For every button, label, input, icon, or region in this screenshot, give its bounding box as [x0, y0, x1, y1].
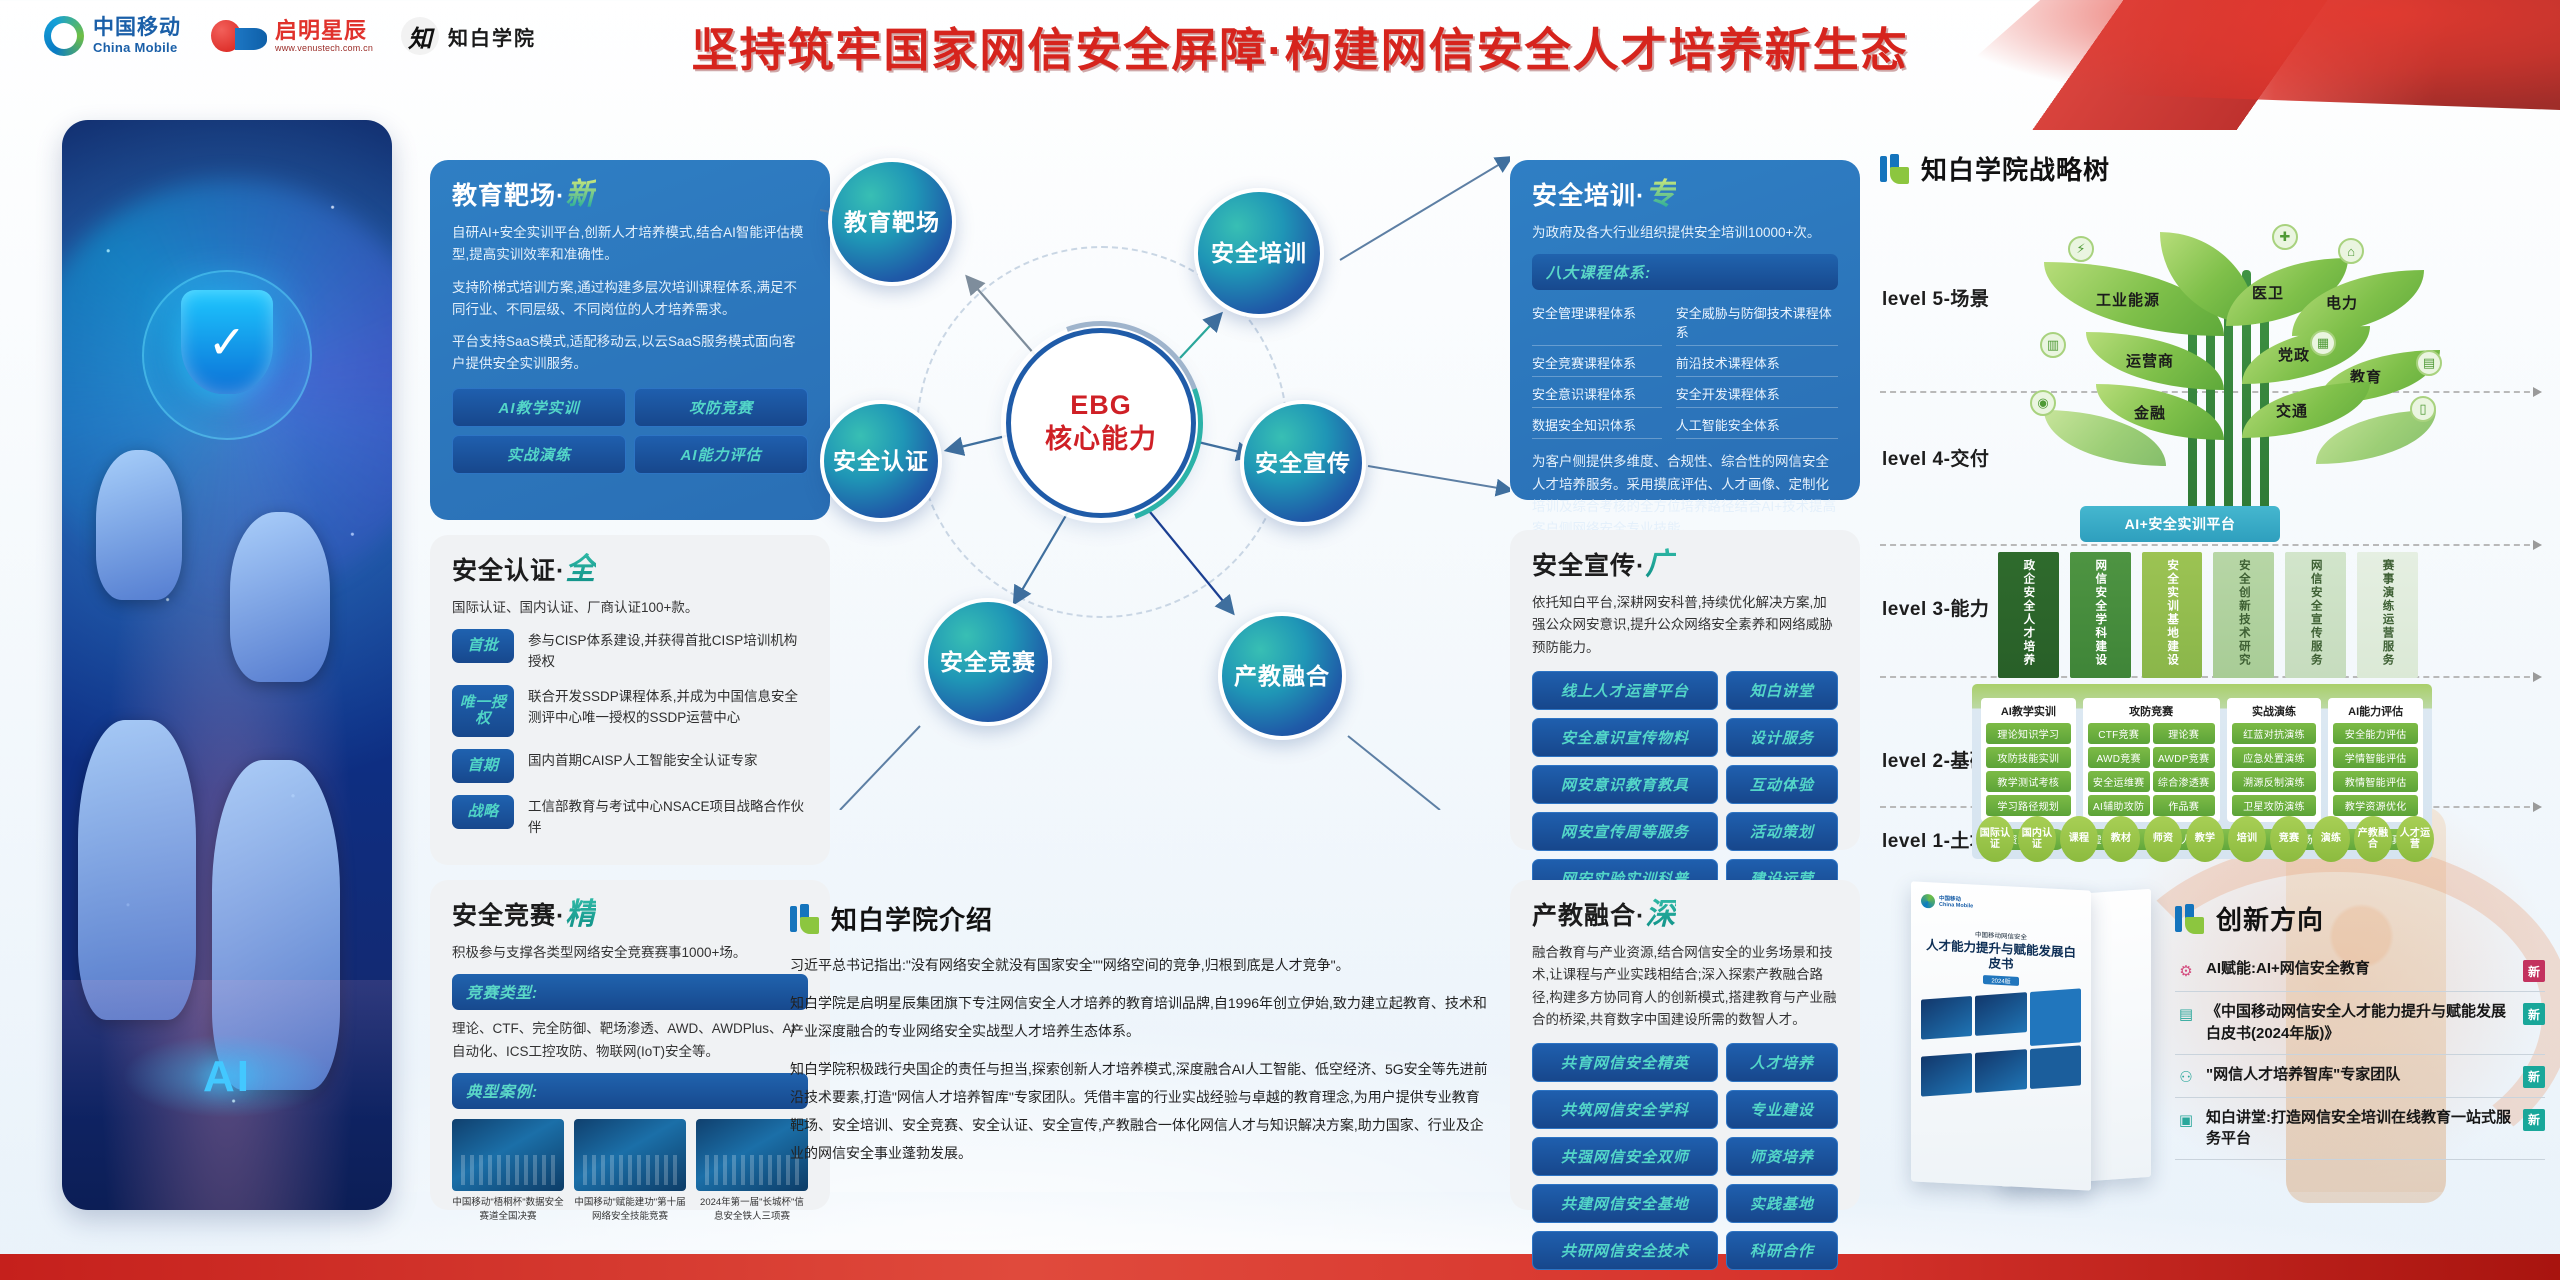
scene-label-operator: 运营商	[2126, 350, 2174, 371]
pill-combat-drill[interactable]: 实战演练	[452, 435, 626, 474]
book-icon: ▤	[2175, 1003, 2197, 1025]
foundation-item: 综合渗透赛	[2153, 771, 2215, 792]
soil-item: 人才运营	[2396, 816, 2434, 862]
node-security-training[interactable]: 安全培训	[1194, 188, 1324, 318]
power-plug-icon: ⌂	[2338, 238, 2364, 264]
competition-types: 理论、CTF、完全防御、靶场渗透、AWD、AWDPlus、AI自动化、ICS工控…	[452, 1018, 808, 1063]
case-photo	[452, 1119, 564, 1191]
level-4-label: level 4-交付	[1882, 444, 1989, 471]
capability-label: 政企安全人才培养	[2020, 559, 2036, 667]
case-caption: 中国移动"赋能建功"第十届网络安全技能竞赛	[574, 1196, 686, 1224]
pill-co-build-discipline[interactable]: 共筑网信安全学科	[1532, 1090, 1718, 1129]
page-title: 坚持筑牢国家网信安全屏障·构建网信安全人才培养新生态	[600, 14, 2000, 80]
whitepaper-year: 2024版	[1983, 975, 2019, 986]
pill-education-aids[interactable]: 网安意识教育教具	[1532, 765, 1718, 804]
strategy-tree-header: 知白学院战略树	[1880, 150, 2540, 187]
soil-item: 演练	[2312, 816, 2350, 862]
course-item: 人工智能安全体系	[1676, 410, 1838, 439]
tree-levels: level 5-场景 level 4-交付 level 3-能力 level 2…	[1880, 206, 2540, 806]
innovation-item[interactable]: ▣ 知白讲堂:打造网信安全培训在线教育一站式服务平台 新	[2175, 1098, 2545, 1161]
certification-item: 唯一授权 联合开发SSDP课程体系,并成为中国信息安全测评中心唯一授权的SSDP…	[452, 685, 808, 737]
pill-talent-cultivation[interactable]: 人才培养	[1726, 1043, 1838, 1082]
finance-icon: ◉	[2030, 390, 2056, 416]
capability-label: 网信安全宣传服务	[2308, 559, 2324, 667]
capability-column: 安全创新技术研究	[2213, 552, 2274, 678]
scene-label-industrial-energy: 工业能源	[2096, 289, 2160, 310]
scene-label-power: 电力	[2326, 292, 2358, 313]
capability-column: 赛事演练运营服务	[2357, 552, 2418, 678]
core-label-ebg: EBG	[1045, 389, 1157, 423]
case-photo	[574, 1119, 686, 1191]
china-mobile-name-en: China Mobile	[93, 40, 181, 55]
foundation-item: 卫星攻防演练	[2232, 795, 2317, 816]
intro-para-1: 习近平总书记指出:"没有网络安全就没有国家安全""网络空间的竞争,归根到底是人才…	[790, 951, 1490, 979]
level-3-label: level 3-能力	[1882, 594, 1989, 621]
book-icon: ▤	[2416, 350, 2442, 376]
innovation-item-text: 《中国移动网信安全人才能力提升与赋能发展白皮书(2024年版)》	[2206, 1001, 2514, 1045]
hero-banner: AI	[62, 120, 392, 1210]
zhibai-seal-icon: 知	[401, 17, 439, 55]
foundation-items: 安全能力评估 学情智能评估 教情智能评估 教学资源优化	[2333, 723, 2418, 816]
promotion-lead: 依托知白平台,深耕网安科普,持续优化解决方案,加强公众网安意识,提升公众网络安全…	[1532, 592, 1838, 659]
foundation-item: 理论知识学习	[1986, 723, 2071, 744]
innovation-item[interactable]: ⚙ AI赋能:AI+网信安全教育 新	[2175, 949, 2545, 992]
innovation-item[interactable]: ▤ 《中国移动网信安全人才能力提升与赋能发展白皮书(2024年版)》 新	[2175, 992, 2545, 1055]
capability-label: 安全实训基地建设	[2164, 559, 2180, 667]
cert-badge: 战略	[452, 795, 514, 829]
innovation-item[interactable]: ⚇ "网信人才培养智库"专家团队 新	[2175, 1055, 2545, 1098]
whitepaper-front-cover: 中国移动 China Mobile 中国移动网信安全 人才能力提升与赋能发展白皮…	[1911, 881, 2091, 1190]
integration-lead: 融合教育与产业资源,结合网信安全的业务场景和技术,让课程与产业实践相结合;深入探…	[1532, 942, 1838, 1031]
zhibai-brand-icon	[2175, 904, 2205, 934]
intro-para-2: 知白学院是启明星辰集团旗下专注网信安全人才培养的教育培训品牌,自1996年创立伊…	[790, 989, 1490, 1045]
foundation-items: CTF竞赛 理论赛 AWD竞赛 AWDP竞赛 安全运维赛 综合渗透赛 AI辅助攻…	[2088, 723, 2215, 816]
foundation-item: 红蓝对抗演练	[2232, 723, 2317, 744]
card-title: 安全认证·全	[452, 555, 808, 585]
foundation-group-title: 攻防竞赛	[2088, 703, 2215, 719]
pill-co-build-base[interactable]: 共建网信安全基地	[1532, 1184, 1718, 1223]
card-title: 教育靶场·新	[452, 180, 808, 210]
node-security-certification[interactable]: 安全认证	[820, 400, 942, 522]
intro-header: 知白学院介绍	[790, 900, 1490, 937]
card-security-promotion: 安全宣传·广 依托知白平台,深耕网安科普,持续优化解决方案,加强公众网安意识,提…	[1510, 530, 1860, 850]
competition-type-bar: 竞赛类型:	[452, 974, 808, 1010]
node-education-range[interactable]: 教育靶场	[828, 158, 956, 286]
card-security-training: 安全培训·专 为政府及各大行业组织提供安全培训10000+次。 八大课程体系: …	[1510, 160, 1860, 500]
whitepaper-title: 人才能力提升与赋能发展白皮书	[1921, 938, 2081, 976]
tree-crown: 工业能源 医卫 电力 运营商 党政 教育 金融	[2030, 214, 2470, 514]
capability-column: 网信安全宣传服务	[2285, 552, 2346, 678]
venustech-name: 启明星辰	[275, 19, 373, 42]
monitor-icon: ▣	[2175, 1109, 2197, 1131]
node-industry-education[interactable]: 产教融合	[1218, 612, 1346, 740]
scene-label-transport: 交通	[2276, 400, 2308, 421]
status-badge: 新	[2523, 960, 2545, 982]
zhibai-brand-icon	[1880, 154, 1910, 184]
foundation-items: 红蓝对抗演练 应急处置演练 溯源反制演练 卫星攻防演练	[2232, 723, 2317, 816]
china-mobile-icon	[44, 16, 84, 56]
zhibai-name: 知白学院	[448, 22, 536, 51]
pill-event-planning[interactable]: 活动策划	[1726, 812, 1838, 851]
card-industry-education: 产教融合·深 融合教育与产业资源,结合网信安全的业务场景和技术,让课程与产业实践…	[1510, 880, 1860, 1210]
capability-column: 网信安全学科建设	[2070, 552, 2131, 678]
pill-co-cultivate-elites[interactable]: 共育网信安全精英	[1532, 1043, 1718, 1082]
training-lead: 为政府及各大行业组织提供安全培训10000+次。	[1532, 222, 1838, 244]
pill-online-talent-platform[interactable]: 线上人才运营平台	[1532, 671, 1718, 710]
status-badge: 新	[2523, 1066, 2545, 1088]
venustech-url: www.venustech.com.cn	[275, 43, 373, 53]
case-caption: 中国移动"梧桐杯"数据安全赛道全国决赛	[452, 1196, 564, 1224]
venustech-icon	[209, 16, 267, 56]
case-item: 中国移动"梧桐杯"数据安全赛道全国决赛	[452, 1119, 564, 1224]
soil-item: 国际认证	[1976, 816, 2014, 862]
strategy-tree-panel: 知白学院战略树 level 5-场景 level 4-交付 level 3-能力…	[1880, 150, 2540, 810]
astronaut-figure	[230, 512, 330, 682]
train-icon: ▯	[2410, 396, 2436, 422]
ai-security-platform-node[interactable]: AI+安全实训平台	[2080, 506, 2280, 542]
level3-capability-columns: 政企安全人才培养 网信安全学科建设 安全实训基地建设 安全创新技术研究 网信安全…	[1998, 552, 2418, 678]
foundation-item: 攻防技能实训	[1986, 747, 2071, 768]
status-badge: 新	[2523, 1109, 2545, 1131]
pill-faculty-training[interactable]: 师资培养	[1726, 1137, 1838, 1176]
node-security-promotion[interactable]: 安全宣传	[1240, 400, 1366, 526]
venustech-logo: 启明星辰 www.venustech.com.cn	[209, 16, 373, 56]
capability-column: 政企安全人才培养	[1998, 552, 2059, 678]
education-para-1: 自研AI+安全实训平台,创新人才培养模式,结合AI智能评估模型,提高实训效率和准…	[452, 222, 808, 267]
foundation-group-title: AI能力评估	[2333, 703, 2418, 719]
soil-item: 国内认证	[2018, 816, 2056, 862]
innovation-item-text: "网信人才培养智库"专家团队	[2206, 1064, 2514, 1086]
foundation-item: AWDP竞赛	[2153, 747, 2215, 768]
hero-ai-label: AI	[203, 1052, 251, 1102]
card-title: 安全竞赛·精	[452, 900, 808, 930]
innovation-header: 创新方向	[2175, 900, 2545, 937]
capability-label: 赛事演练运营服务	[2380, 559, 2396, 667]
node-security-competition[interactable]: 安全竞赛	[924, 598, 1052, 726]
card-certification: 安全认证·全 国际认证、国内认证、厂商认证100+款。 首批 参与CISP体系建…	[430, 535, 830, 865]
intro-para-3: 知白学院积极践行央国企的责任与担当,探索创新人才培养模式,深度融合AI人工智能、…	[790, 1055, 1490, 1167]
competition-lead: 积极参与支撑各类型网络安全竞赛赛事1000+场。	[452, 942, 808, 964]
foundation-group-title: AI教学实训	[1986, 703, 2071, 719]
course-item: 安全威胁与防御技术课程体系	[1676, 298, 1838, 346]
education-pill-grid: AI教学实训 攻防竞赛 实战演练 AI能力评估	[452, 388, 808, 474]
energy-icon: ⚡	[2068, 236, 2094, 262]
case-caption: 2024年第一届"长城杯"信息安全铁人三项赛	[696, 1196, 808, 1224]
certification-lead: 国际认证、国内认证、厂商认证100+款。	[452, 597, 808, 619]
soil-item: 教材	[2102, 816, 2140, 862]
course-item: 安全管理课程体系	[1532, 298, 1662, 346]
zhibai-brand-icon	[790, 904, 820, 934]
pill-awareness-week[interactable]: 网安宣传周等服务	[1532, 812, 1718, 851]
poster-root: 中国移动 China Mobile 启明星辰 www.venustech.com…	[0, 0, 2560, 1280]
soil-item: 课程	[2060, 816, 2098, 862]
training-course-grid: 安全管理课程体系 安全威胁与防御技术课程体系 安全竞赛课程体系 前沿技术课程体系…	[1532, 298, 1838, 439]
cert-badge: 唯一授权	[452, 685, 514, 737]
foundation-item: 理论赛	[2153, 723, 2215, 744]
shield-check-icon	[181, 290, 273, 394]
foundation-item: 教学测试考核	[1986, 771, 2071, 792]
foundation-group: AI能力评估 安全能力评估 学情智能评估 教情智能评估 教学资源优化	[2328, 698, 2423, 822]
diagram-core-node: EBG 核心能力	[1006, 328, 1196, 518]
promotion-pill-grid: 线上人才运营平台 知白讲堂 安全意识宣传物料 设计服务 网安意识教育教具 互动体…	[1532, 671, 1838, 898]
cert-badge: 首期	[452, 749, 514, 783]
pill-co-research-tech[interactable]: 共研网信安全技术	[1532, 1231, 1718, 1270]
foundation-item: 学习路径规划	[1986, 795, 2071, 816]
card-competition: 安全竞赛·精 积极参与支撑各类型网络安全竞赛赛事1000+场。 竞赛类型: 理论…	[430, 880, 830, 1210]
course-item: 数据安全知识体系	[1532, 410, 1662, 439]
course-item: 安全意识课程体系	[1532, 379, 1662, 408]
course-item: 安全开发课程体系	[1676, 379, 1838, 408]
pill-interactive-experience[interactable]: 互动体验	[1726, 765, 1838, 804]
cert-text: 工信部教育与考试中心NSACE项目战略合作伙伴	[528, 795, 808, 839]
card-title: 安全宣传·广	[1532, 550, 1838, 580]
whitepaper-brand-en: China Mobile	[1939, 902, 1973, 910]
astronaut-figure	[78, 720, 196, 1020]
brain-icon: ⚙	[2175, 960, 2197, 982]
foundation-item: AI辅助攻防	[2088, 795, 2150, 816]
people-icon: ⚇	[2175, 1066, 2197, 1088]
whitepaper-logo: 中国移动 China Mobile	[1921, 894, 2081, 916]
foundation-item: 安全能力评估	[2333, 723, 2418, 744]
level1-soil-row: 国际认证 国内认证 课程 教材 师资 教学 培训 竞赛 演练 产教融合 人才运营	[1976, 816, 2434, 862]
zhibai-logo: 知 知白学院	[401, 17, 536, 55]
foundation-group: 攻防竞赛 CTF竞赛 理论赛 AWD竞赛 AWDP竞赛 安全运维赛 综合渗透赛 …	[2083, 698, 2220, 822]
foundation-group-title: 实战演练	[2232, 703, 2317, 719]
shop-icon: ▥	[2040, 332, 2066, 358]
scene-label-finance: 金融	[2134, 402, 2166, 423]
pill-zhibai-lecture[interactable]: 知白讲堂	[1726, 671, 1838, 710]
cert-text: 联合开发SSDP课程体系,并成为中国信息安全测评中心唯一授权的SSDP运营中心	[528, 685, 808, 729]
integration-pill-grid: 共育网信安全精英 人才培养 共筑网信安全学科 专业建设 共强网信安全双师 师资培…	[1532, 1043, 1838, 1270]
certification-item: 首期 国内首期CAISP人工智能安全认证专家	[452, 749, 808, 783]
intro-body: 习近平总书记指出:"没有网络安全就没有国家安全""网络空间的竞争,归根到底是人才…	[790, 951, 1490, 1167]
innovation-item-text: 知白讲堂:打造网信安全培训在线教育一站式服务平台	[2206, 1107, 2514, 1151]
soil-item: 产教融合	[2354, 816, 2392, 862]
innovation-item-text: AI赋能:AI+网信安全教育	[2206, 958, 2514, 980]
pill-research-coop[interactable]: 科研合作	[1726, 1231, 1838, 1270]
case-item: 中国移动"赋能建功"第十届网络安全技能竞赛	[574, 1119, 686, 1224]
foundation-item: 教情智能评估	[2333, 771, 2418, 792]
foundation-item: 教学资源优化	[2333, 795, 2418, 816]
level-5-label: level 5-场景	[1882, 284, 1989, 311]
status-badge: 新	[2523, 1003, 2545, 1025]
strategy-tree-title: 知白学院战略树	[1921, 150, 2110, 187]
soil-item: 师资	[2144, 816, 2182, 862]
level-divider	[1880, 544, 2540, 546]
soil-item: 培训	[2228, 816, 2266, 862]
innovation-title: 创新方向	[2216, 900, 2324, 937]
training-tail: 为客户侧提供多维度、合规性、综合性的网信安全人才培养服务。采用摸底评估、人才画像…	[1532, 451, 1838, 540]
ebg-core-capability-diagram: 教育靶场 安全培训 安全认证 安全宣传 安全竞赛 产教融合 EBG 核心能力	[820, 150, 1510, 810]
logo-group: 中国移动 China Mobile 启明星辰 www.venustech.com…	[44, 16, 536, 56]
pill-practice-base[interactable]: 实践基地	[1726, 1184, 1838, 1223]
astronaut-figure	[96, 450, 182, 600]
pill-awareness-materials[interactable]: 安全意识宣传物料	[1532, 718, 1718, 757]
innovation-directions: 创新方向 ⚙ AI赋能:AI+网信安全教育 新 ▤ 《中国移动网信安全人才能力提…	[2175, 900, 2545, 1160]
china-mobile-name-cn: 中国移动	[93, 17, 181, 39]
foundation-item: 应急处置演练	[2232, 747, 2317, 768]
competition-case-list: 中国移动"梧桐杯"数据安全赛道全国决赛 中国移动"赋能建功"第十届网络安全技能竞…	[452, 1119, 808, 1224]
cert-text: 国内首期CAISP人工智能安全认证专家	[528, 749, 758, 772]
academy-introduction: 知白学院介绍 习近平总书记指出:"没有网络安全就没有国家安全""网络空间的竞争,…	[790, 900, 1490, 1177]
capability-label: 安全创新技术研究	[2236, 559, 2252, 667]
china-mobile-logo: 中国移动 China Mobile	[44, 16, 181, 56]
scene-label-party-government: 党政	[2278, 344, 2310, 365]
capability-label: 网信安全学科建设	[2092, 559, 2108, 667]
card-education-range: 教育靶场·新 自研AI+安全实训平台,创新人才培养模式,结合AI智能评估模型,提…	[430, 160, 830, 520]
government-icon: ▦	[2310, 330, 2336, 356]
china-mobile-icon	[1921, 894, 1935, 909]
intro-title: 知白学院介绍	[831, 900, 993, 937]
foundation-item: AWD竞赛	[2088, 747, 2150, 768]
tree-leaf: 运营商	[2086, 332, 2224, 390]
pill-major-construction[interactable]: 专业建设	[1726, 1090, 1838, 1129]
soil-item: 教学	[2186, 816, 2224, 862]
competition-case-bar: 典型案例:	[452, 1073, 808, 1109]
cert-badge: 首批	[452, 629, 514, 663]
foundation-item: 安全运维赛	[2088, 771, 2150, 792]
pill-design-service[interactable]: 设计服务	[1726, 718, 1838, 757]
foundation-items: 理论知识学习 攻防技能实训 教学测试考核 学习路径规划	[1986, 723, 2071, 816]
innovation-list: ⚙ AI赋能:AI+网信安全教育 新 ▤ 《中国移动网信安全人才能力提升与赋能发…	[2175, 949, 2545, 1160]
pill-attack-defense[interactable]: 攻防竞赛	[634, 388, 808, 427]
foundation-item: 溯源反制演练	[2232, 771, 2317, 792]
education-para-2: 支持阶梯式培训方案,通过构建多层次培训课程体系,满足不同行业、不同层级、不同岗位…	[452, 277, 808, 322]
scene-label-health: 医卫	[2252, 282, 2284, 303]
header: 中国移动 China Mobile 启明星辰 www.venustech.com…	[0, 0, 2560, 92]
whitepaper-cover-collage	[1921, 988, 2081, 1096]
education-para-3: 平台支持SaaS模式,适配移动云,以云SaaS服务模式面向客户提供安全实训服务。	[452, 331, 808, 376]
foundation-item: 作品赛	[2153, 795, 2215, 816]
soil-item: 竞赛	[2270, 816, 2308, 862]
card-title: 安全培训·专	[1532, 180, 1838, 210]
pill-co-strengthen-teachers[interactable]: 共强网信安全双师	[1532, 1137, 1718, 1176]
pill-ai-assessment[interactable]: AI能力评估	[634, 435, 808, 474]
decor-bottom-bar	[0, 1254, 2560, 1280]
certification-item: 首批 参与CISP体系建设,并获得首批CISP培训机构授权	[452, 629, 808, 673]
capability-column: 安全实训基地建设	[2142, 552, 2203, 678]
card-title: 产教融合·深	[1532, 900, 1838, 930]
training-courses-bar: 八大课程体系:	[1532, 254, 1838, 290]
whitepaper-mockup: 中国移动 China Mobile 中国移动网信安全 人才能力提升与赋能发展白皮…	[1905, 880, 2175, 1200]
certification-item: 战略 工信部教育与考试中心NSACE项目战略合作伙伴	[452, 795, 808, 839]
cert-text: 参与CISP体系建设,并获得首批CISP培训机构授权	[528, 629, 808, 673]
foundation-group: 实战演练 红蓝对抗演练 应急处置演练 溯源反制演练 卫星攻防演练	[2227, 698, 2322, 822]
pill-ai-teaching[interactable]: AI教学实训	[452, 388, 626, 427]
foundation-item: 学情智能评估	[2333, 747, 2418, 768]
foundation-group: AI教学实训 理论知识学习 攻防技能实训 教学测试考核 学习路径规划	[1981, 698, 2076, 822]
core-label-capability: 核心能力	[1045, 423, 1157, 457]
course-item: 安全竞赛课程体系	[1532, 348, 1662, 377]
medical-icon: ✚	[2272, 224, 2298, 250]
foundation-item: CTF竞赛	[2088, 723, 2150, 744]
course-item: 前沿技术课程体系	[1676, 348, 1838, 377]
